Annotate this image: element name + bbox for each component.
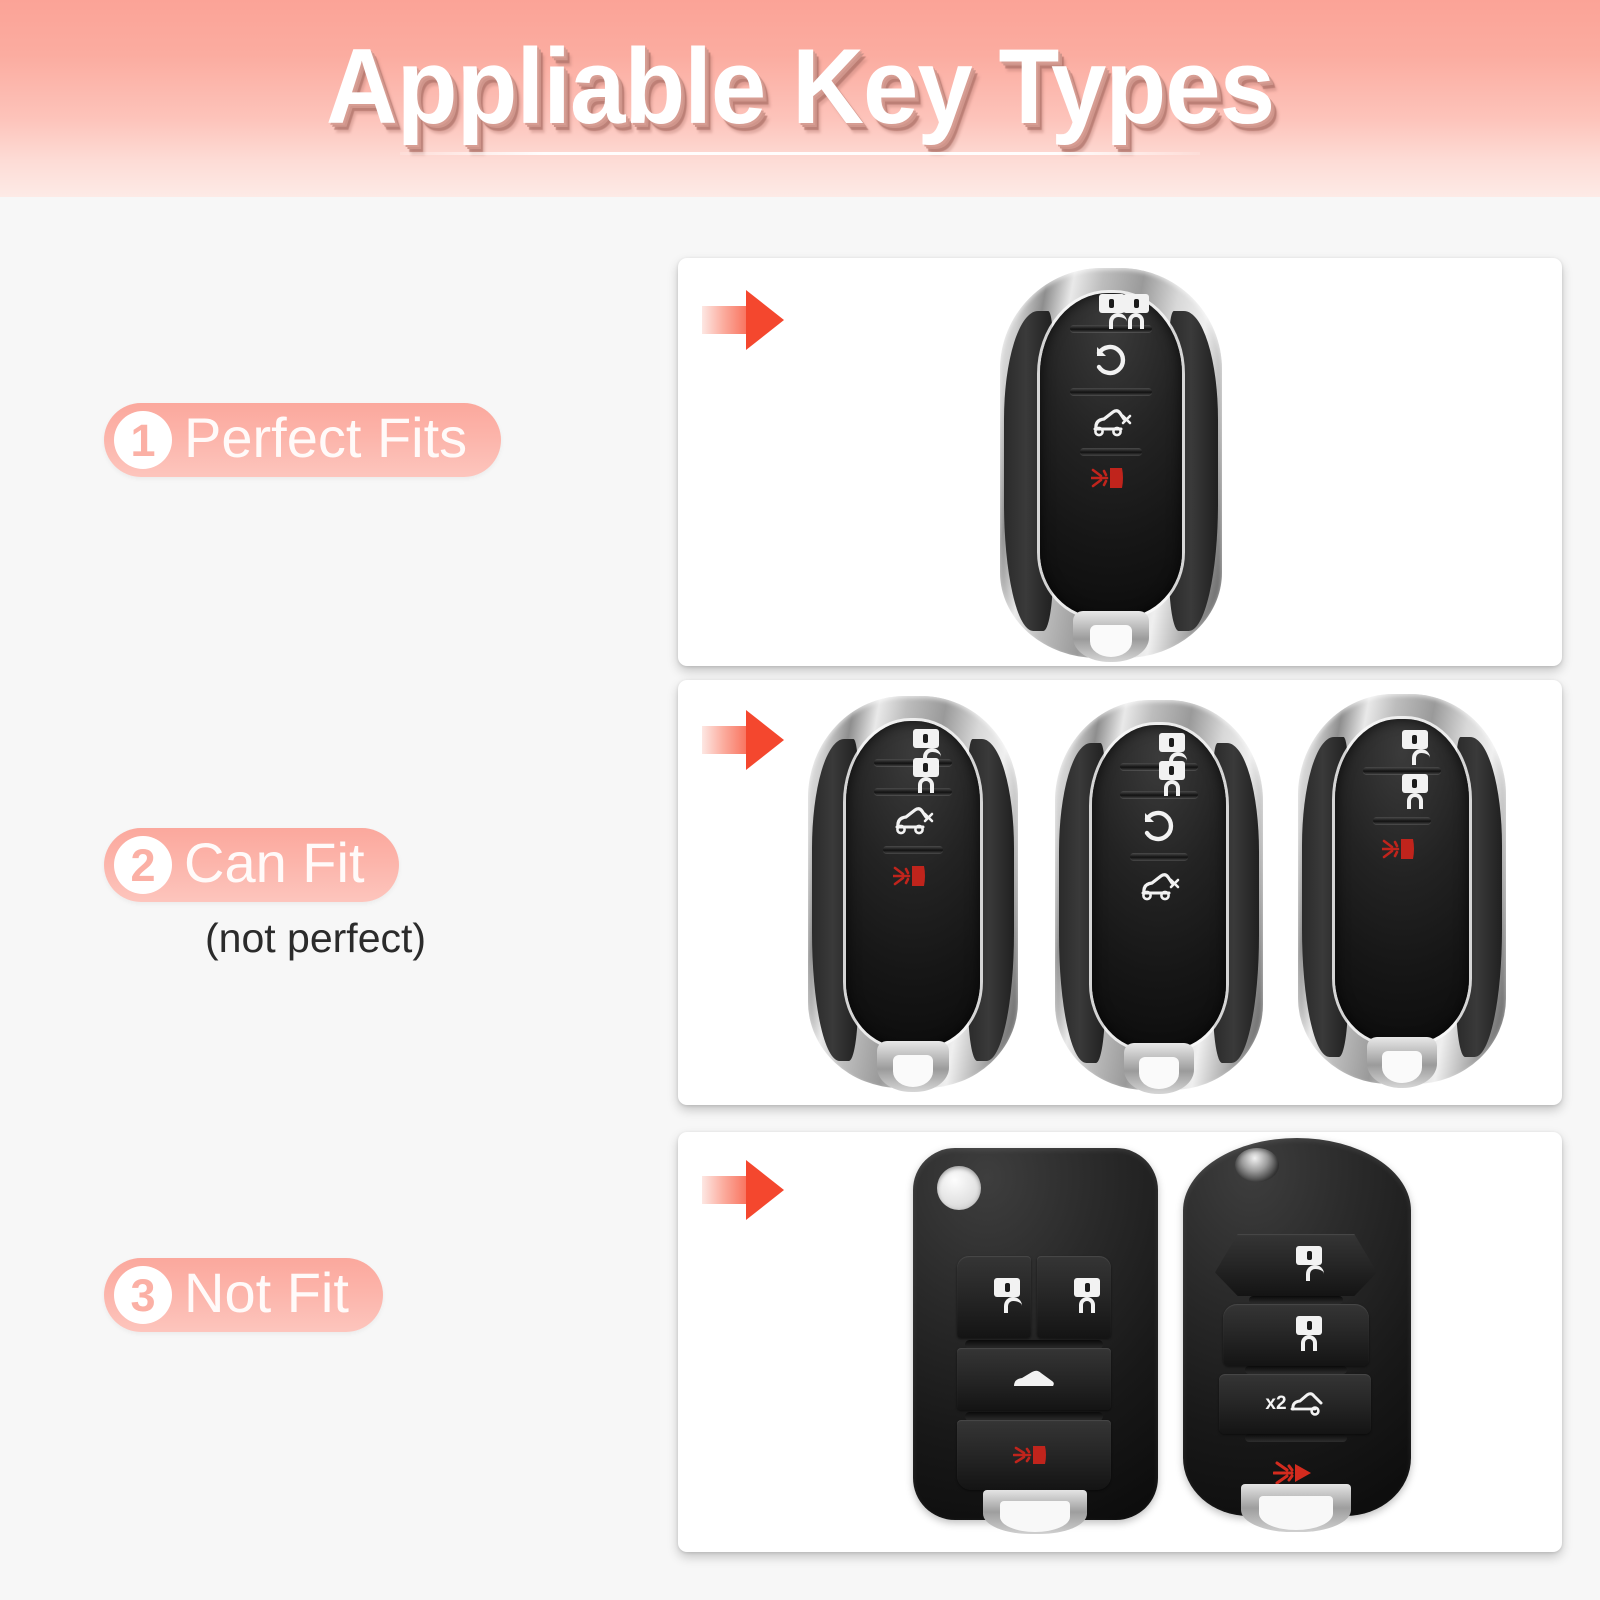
- trunk-release-icon: [1137, 871, 1181, 901]
- section-number-1: 1: [114, 411, 172, 469]
- panel-can-fit: [678, 680, 1562, 1105]
- title-underline: [400, 152, 1200, 155]
- page-title: Appliable Key Types: [56, 30, 1544, 142]
- button-separator: [1120, 791, 1197, 798]
- lock-button[interactable]: [1037, 1256, 1111, 1338]
- key-button-pad: [1040, 293, 1182, 617]
- button-separator: [1245, 1434, 1347, 1442]
- panic-alarm-icon: [1091, 466, 1131, 490]
- smart-key-4-button-a: [808, 696, 1018, 1088]
- button-separator: [1130, 853, 1189, 860]
- remote-start-icon: [1141, 809, 1177, 843]
- section-number-2: 2: [114, 836, 172, 894]
- panic-horn-icon: [1273, 1460, 1319, 1486]
- button-separator: [883, 846, 942, 853]
- panel-not-fit: x2: [678, 1132, 1562, 1552]
- unlock-button[interactable]: [957, 1256, 1031, 1338]
- key-ring-loop: [1124, 1043, 1195, 1094]
- smart-key-5-button: [1000, 268, 1222, 658]
- remote-start-icon: [1093, 343, 1129, 377]
- trunk-x2-label: x2: [1265, 1393, 1286, 1415]
- button-separator: [1245, 1366, 1347, 1374]
- panic-alarm-icon: [1382, 837, 1422, 861]
- unlock-button[interactable]: [1215, 1234, 1377, 1296]
- smart-key-3-button: [1298, 694, 1506, 1084]
- red-right-arrow-icon: [702, 1160, 784, 1220]
- button-separator: [1363, 767, 1440, 774]
- key-ring-loop: [1073, 611, 1148, 662]
- red-right-arrow-icon: [702, 710, 784, 770]
- flip-key-rounded: [913, 1148, 1158, 1520]
- key-button-pad: [846, 721, 980, 1046]
- section-label-text-1: Perfect Fits: [184, 410, 467, 470]
- section-label-3[interactable]: 3 Not Fit: [104, 1258, 383, 1332]
- key-blade: [983, 1490, 1087, 1534]
- keyring-hole: [1235, 1148, 1279, 1182]
- key-blade: [1241, 1484, 1351, 1532]
- header-banner: Appliable Key Types: [0, 0, 1600, 197]
- panic-alarm-icon: [1013, 1443, 1055, 1467]
- key-ring-loop: [877, 1041, 948, 1092]
- section-sub-caption-2: (not perfect): [205, 915, 426, 962]
- button-separator: [1249, 1296, 1343, 1304]
- trunk-release-icon: [1289, 1392, 1325, 1416]
- key-ring-loop: [1367, 1037, 1438, 1088]
- panel-perfect-fits: [678, 258, 1562, 666]
- section-number-3: 3: [114, 1266, 172, 1324]
- button-separator: [1070, 388, 1152, 395]
- key-button-pad: [1335, 719, 1468, 1043]
- section-label-text-3: Not Fit: [184, 1265, 349, 1325]
- section-label-1[interactable]: 1 Perfect Fits: [104, 403, 501, 477]
- lock-button[interactable]: [1223, 1304, 1369, 1366]
- trunk-button[interactable]: [957, 1348, 1111, 1410]
- smart-key-4-button-b: [1055, 700, 1263, 1090]
- trunk-release-icon: [1089, 407, 1133, 437]
- panic-button[interactable]: [957, 1420, 1111, 1490]
- button-separator: [1080, 448, 1143, 455]
- key-button-pad: [1092, 725, 1225, 1049]
- panic-alarm-icon: [893, 864, 933, 888]
- section-label-text-2: Can Fit: [184, 835, 365, 895]
- flip-key-angular: x2: [1183, 1138, 1411, 1516]
- section-label-2[interactable]: 2 Can Fit: [104, 828, 399, 902]
- trunk-car-icon: [1011, 1368, 1057, 1390]
- button-separator: [1373, 817, 1432, 824]
- button-separator: [874, 788, 952, 795]
- keyring-hole: [937, 1166, 981, 1210]
- trunk-x2-button[interactable]: x2: [1219, 1374, 1371, 1434]
- trunk-release-icon: [891, 805, 935, 835]
- red-right-arrow-icon: [702, 290, 784, 350]
